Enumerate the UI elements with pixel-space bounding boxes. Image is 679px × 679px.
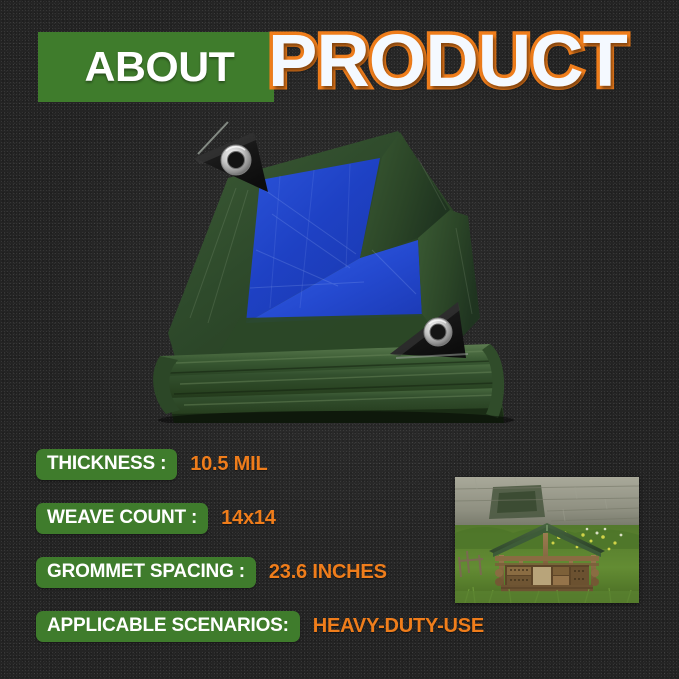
page-title-about: ABOUT: [84, 46, 234, 88]
spec-label-grommet-spacing: GROMMET SPACING :: [47, 562, 245, 581]
spec-label-applicable-scenarios: APPLICABLE SCENARIOS:: [47, 616, 289, 635]
scene-foreground-grass: [455, 591, 639, 603]
scene-illustration: [455, 477, 639, 603]
spec-label-pill-grommet-spacing: GROMMET SPACING :: [36, 557, 256, 588]
spec-value-weave-count: 14x14: [221, 508, 276, 528]
tarp-illustration: [150, 118, 535, 423]
product-photo-folded-tarp: [150, 118, 535, 423]
scene-base-rail: [501, 585, 593, 592]
spec-value-applicable-scenarios: HEAVY-DUTY-USE: [313, 616, 484, 636]
spec-label-thickness: THICKNESS :: [47, 454, 166, 473]
spec-value-grommet-spacing: 23.6 INCHES: [269, 562, 387, 582]
scene-roof-beam: [495, 556, 599, 561]
usage-scene-photo: [455, 477, 639, 603]
spec-row-applicable-scenarios: APPLICABLE SCENARIOS: HEAVY-DUTY-USE: [36, 605, 646, 647]
page-header: ABOUT PRODUCT: [0, 28, 679, 110]
spec-label-pill-applicable-scenarios: APPLICABLE SCENARIOS:: [36, 611, 300, 642]
spec-value-thickness: 10.5 MIL: [190, 454, 267, 474]
about-banner: ABOUT: [38, 32, 274, 102]
scene-wall-dark-opening: [497, 491, 537, 513]
spec-label-pill-weave-count: WEAVE COUNT :: [36, 503, 208, 534]
infographic-page: ABOUT PRODUCT: [0, 0, 679, 679]
spec-label-weave-count: WEAVE COUNT :: [47, 508, 197, 527]
page-title-product: PRODUCT: [268, 24, 627, 98]
spec-label-pill-thickness: THICKNESS :: [36, 449, 177, 480]
